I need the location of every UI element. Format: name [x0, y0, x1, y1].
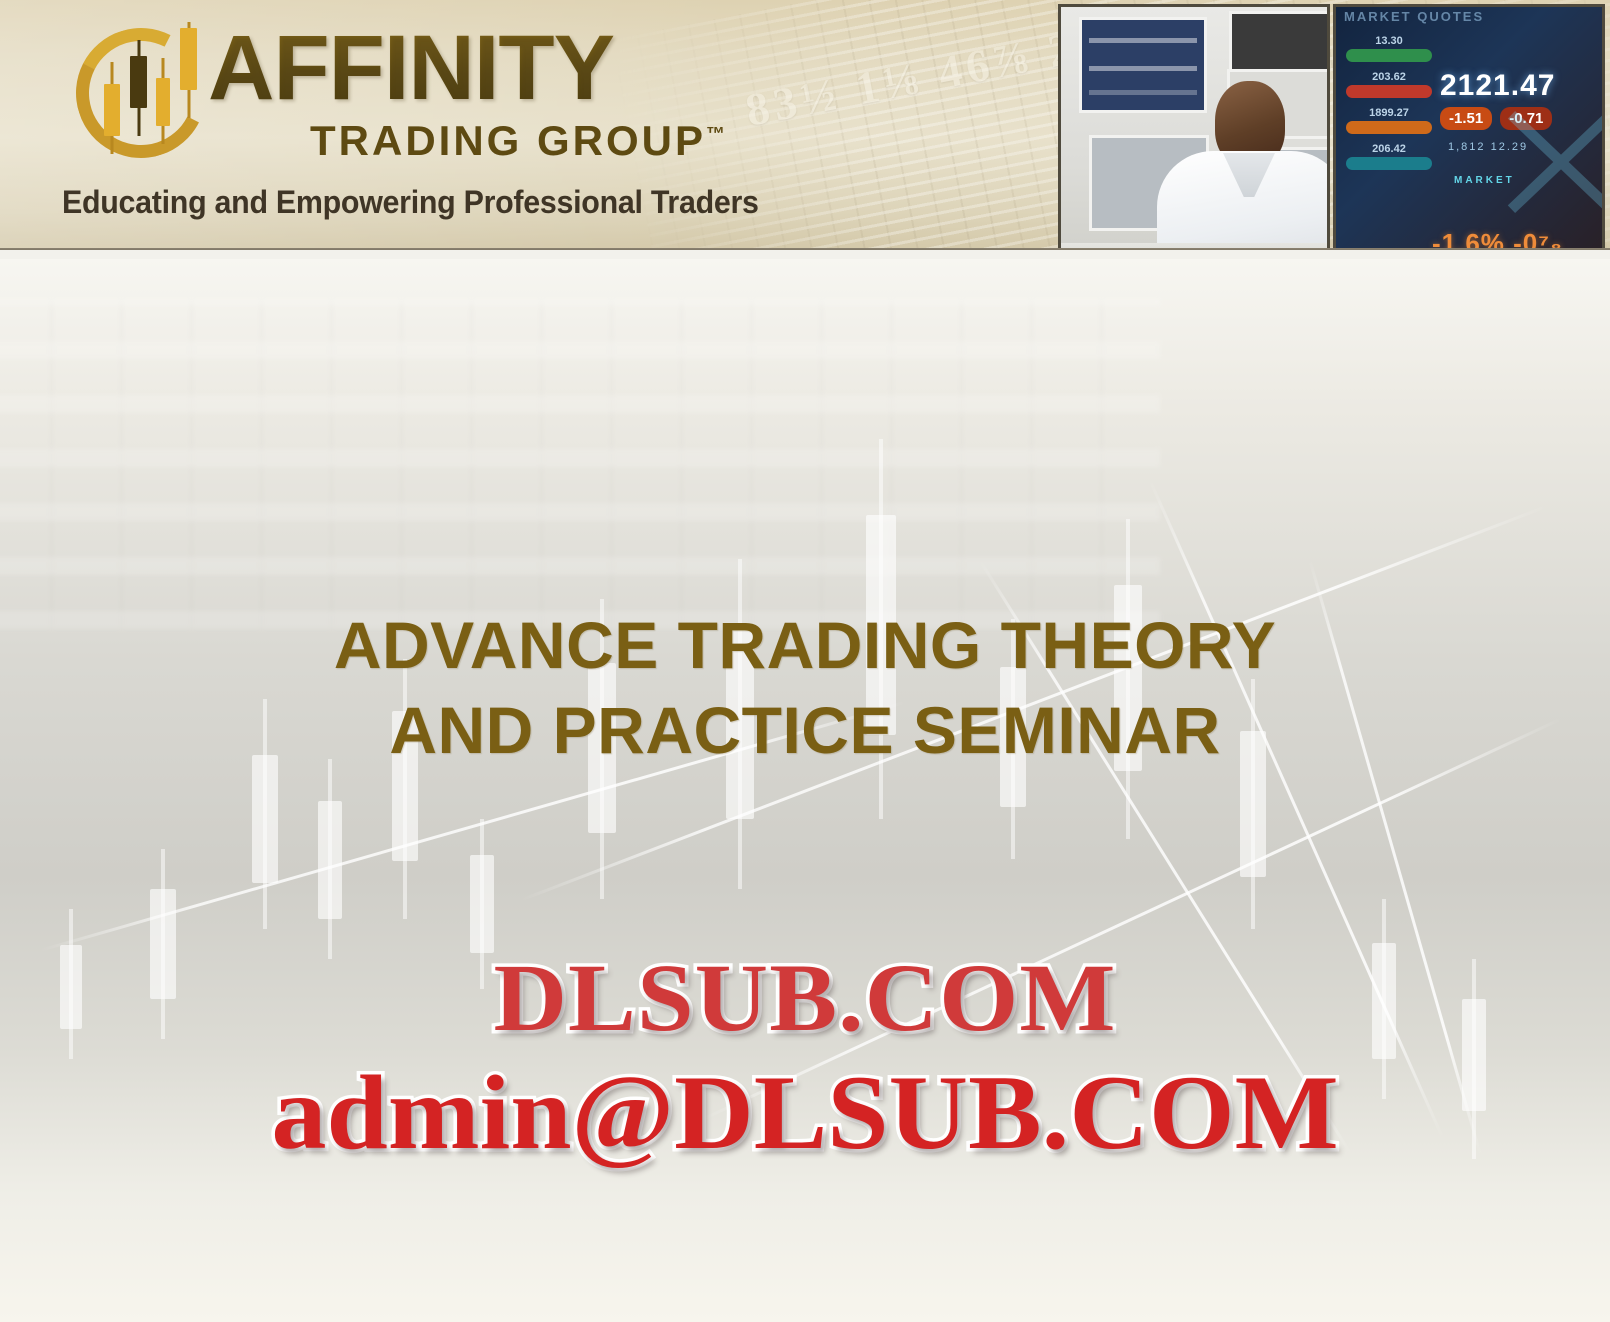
- logo-tagline: Educating and Empowering Professional Tr…: [62, 186, 759, 218]
- market-row-pill-green: [1346, 49, 1432, 62]
- market-scene: MARKET QUOTES 13.30 203.62 1899.27 206.4…: [1336, 7, 1602, 250]
- market-quote-column: 13.30 203.62 1899.27 206.42: [1346, 35, 1432, 179]
- background-trend-line: [1149, 480, 1445, 1139]
- logo-subbrand-label: TRADING GROUP: [310, 117, 706, 164]
- market-row-value: 13.30: [1346, 35, 1432, 47]
- market-change-chip: -1.51: [1440, 107, 1492, 130]
- logo-brand-text: AFFINITY: [208, 22, 614, 114]
- watermark-email: admin@DLSUB.COM: [0, 1059, 1610, 1167]
- market-row-pill-red: [1346, 85, 1432, 98]
- background-candle: [1372, 899, 1396, 1099]
- logo-candle-3: [156, 58, 170, 144]
- trader-person: [1157, 81, 1330, 250]
- logo-subbrand-text: TRADING GROUP™: [310, 120, 725, 162]
- background-candle: [470, 819, 494, 989]
- market-headline: MARKET QUOTES: [1344, 9, 1598, 24]
- monitor-top-right: [1229, 11, 1330, 75]
- market-row-pill-orange: [1346, 121, 1432, 134]
- background-candle: [60, 909, 82, 1059]
- trademark-icon: ™: [706, 124, 725, 145]
- candlestick-arc-logo-icon: [76, 28, 216, 170]
- thumbnail-trader-at-desk[interactable]: [1058, 4, 1330, 250]
- header-divider-rule: [0, 248, 1610, 250]
- affinity-logo: AFFINITY TRADING GROUP™ Educating and Em…: [58, 8, 758, 233]
- market-row-value: 206.42: [1346, 143, 1432, 155]
- watermark: DLSUB.COM admin@DLSUB.COM: [0, 949, 1610, 1167]
- market-row-pill-teal: [1346, 157, 1432, 170]
- background-candle: [150, 849, 176, 1039]
- header-banner: 83½ 1⅛ 46⅞ 2¼ 1 ⅓: [0, 0, 1610, 250]
- market-bottom-change: -1.6% -0⁷₈: [1432, 228, 1563, 250]
- page-title-line-1: ADVANCE TRADING THEORY: [0, 603, 1610, 687]
- market-row-value: 203.62: [1346, 71, 1432, 83]
- background-ghost-table: [0, 299, 1160, 629]
- logo-candle-2: [130, 40, 147, 136]
- page-title-line-2: AND PRACTICE SEMINAR: [0, 688, 1610, 772]
- market-row-value: 1899.27: [1346, 107, 1432, 119]
- watermark-site: DLSUB.COM: [0, 949, 1610, 1047]
- slide-screenshot: 83½ 1⅛ 46⅞ 2¼ 1 ⅓: [0, 0, 1610, 1322]
- background-candle: [318, 759, 342, 959]
- market-x-graphic-icon: [1502, 103, 1602, 221]
- market-index-value: 2121.47: [1440, 69, 1555, 103]
- thumbnail-market-board[interactable]: MARKET QUOTES 13.30 203.62 1899.27 206.4…: [1333, 4, 1605, 250]
- trader-scene: [1061, 7, 1327, 250]
- logo-candle-4: [180, 22, 197, 118]
- page-title: ADVANCE TRADING THEORY AND PRACTICE SEMI…: [0, 603, 1610, 772]
- logo-candle-1: [104, 62, 120, 154]
- slide-body: ADVANCE TRADING THEORY AND PRACTICE SEMI…: [0, 259, 1610, 1322]
